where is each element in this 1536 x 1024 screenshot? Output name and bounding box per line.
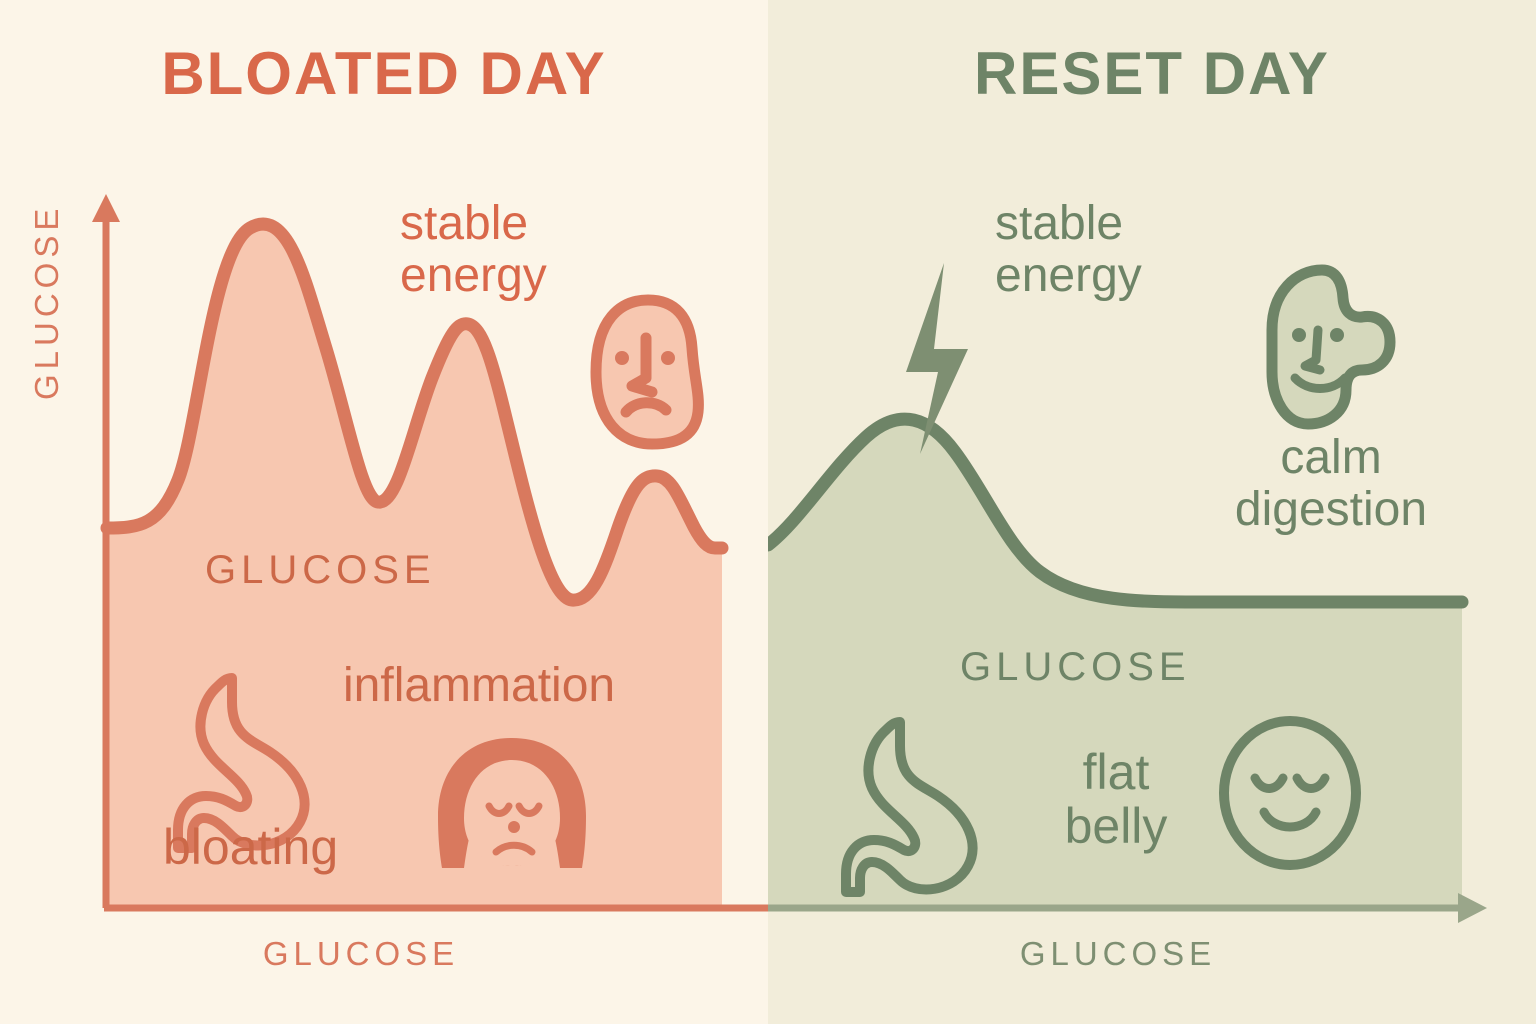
area-label-glucose-left: GLUCOSE <box>205 548 436 593</box>
x-axis-label-left: GLUCOSE <box>0 935 722 973</box>
panel-bloated-day <box>0 0 768 1024</box>
page-title-bloated-day: BLOATED DAY <box>0 42 768 105</box>
page-title-reset-day: RESET DAY <box>768 42 1536 105</box>
y-axis-label: GLUCOSE <box>28 204 66 400</box>
callout-stable-energy-right: stableenergy <box>995 198 1142 302</box>
callout-flat-belly: flatbelly <box>1046 745 1186 853</box>
infographic-canvas: BLOATED DAY RESET DAY GLUCOSE GLUCOSE GL… <box>0 0 1536 1024</box>
callout-inflammation: inflammation <box>343 660 615 712</box>
callout-calm-digestion: calmdigestion <box>1196 432 1466 536</box>
area-label-glucose-right: GLUCOSE <box>960 645 1191 690</box>
callout-bloating: bloating <box>163 820 338 874</box>
callout-stable-energy-left: stableenergy <box>400 198 547 302</box>
x-axis-label-right: GLUCOSE <box>768 935 1468 973</box>
